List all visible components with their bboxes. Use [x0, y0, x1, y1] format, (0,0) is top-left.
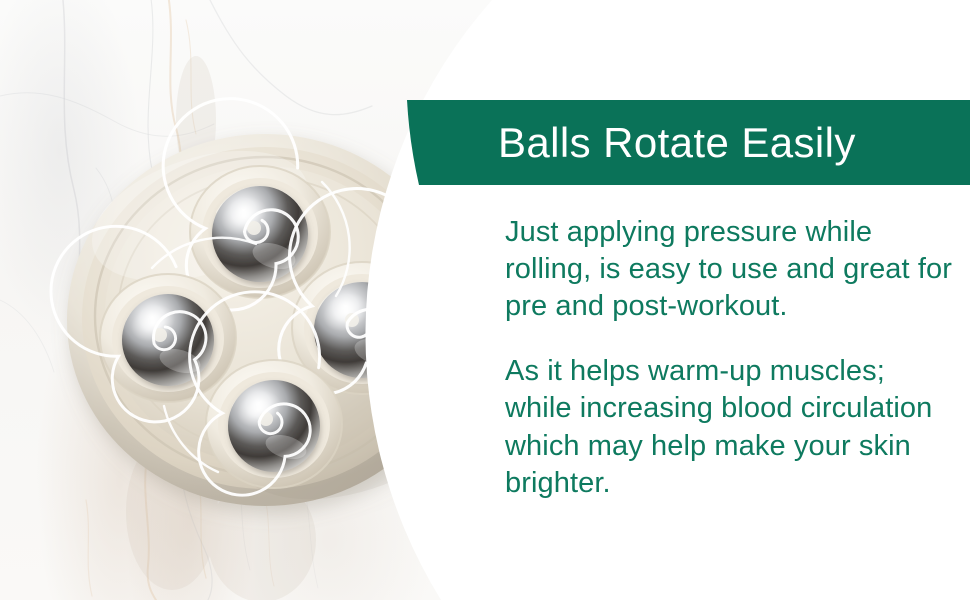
- description-paragraph-1: Just applying pressure while rolling, is…: [505, 214, 957, 325]
- description-paragraph-2: As it helps warm-up muscles; while incre…: [505, 353, 957, 501]
- product-feature-banner: Balls Rotate Easily Just applying pressu…: [0, 0, 970, 600]
- feature-description: Just applying pressure while rolling, is…: [505, 214, 957, 502]
- banner-title: Balls Rotate Easily: [498, 108, 968, 178]
